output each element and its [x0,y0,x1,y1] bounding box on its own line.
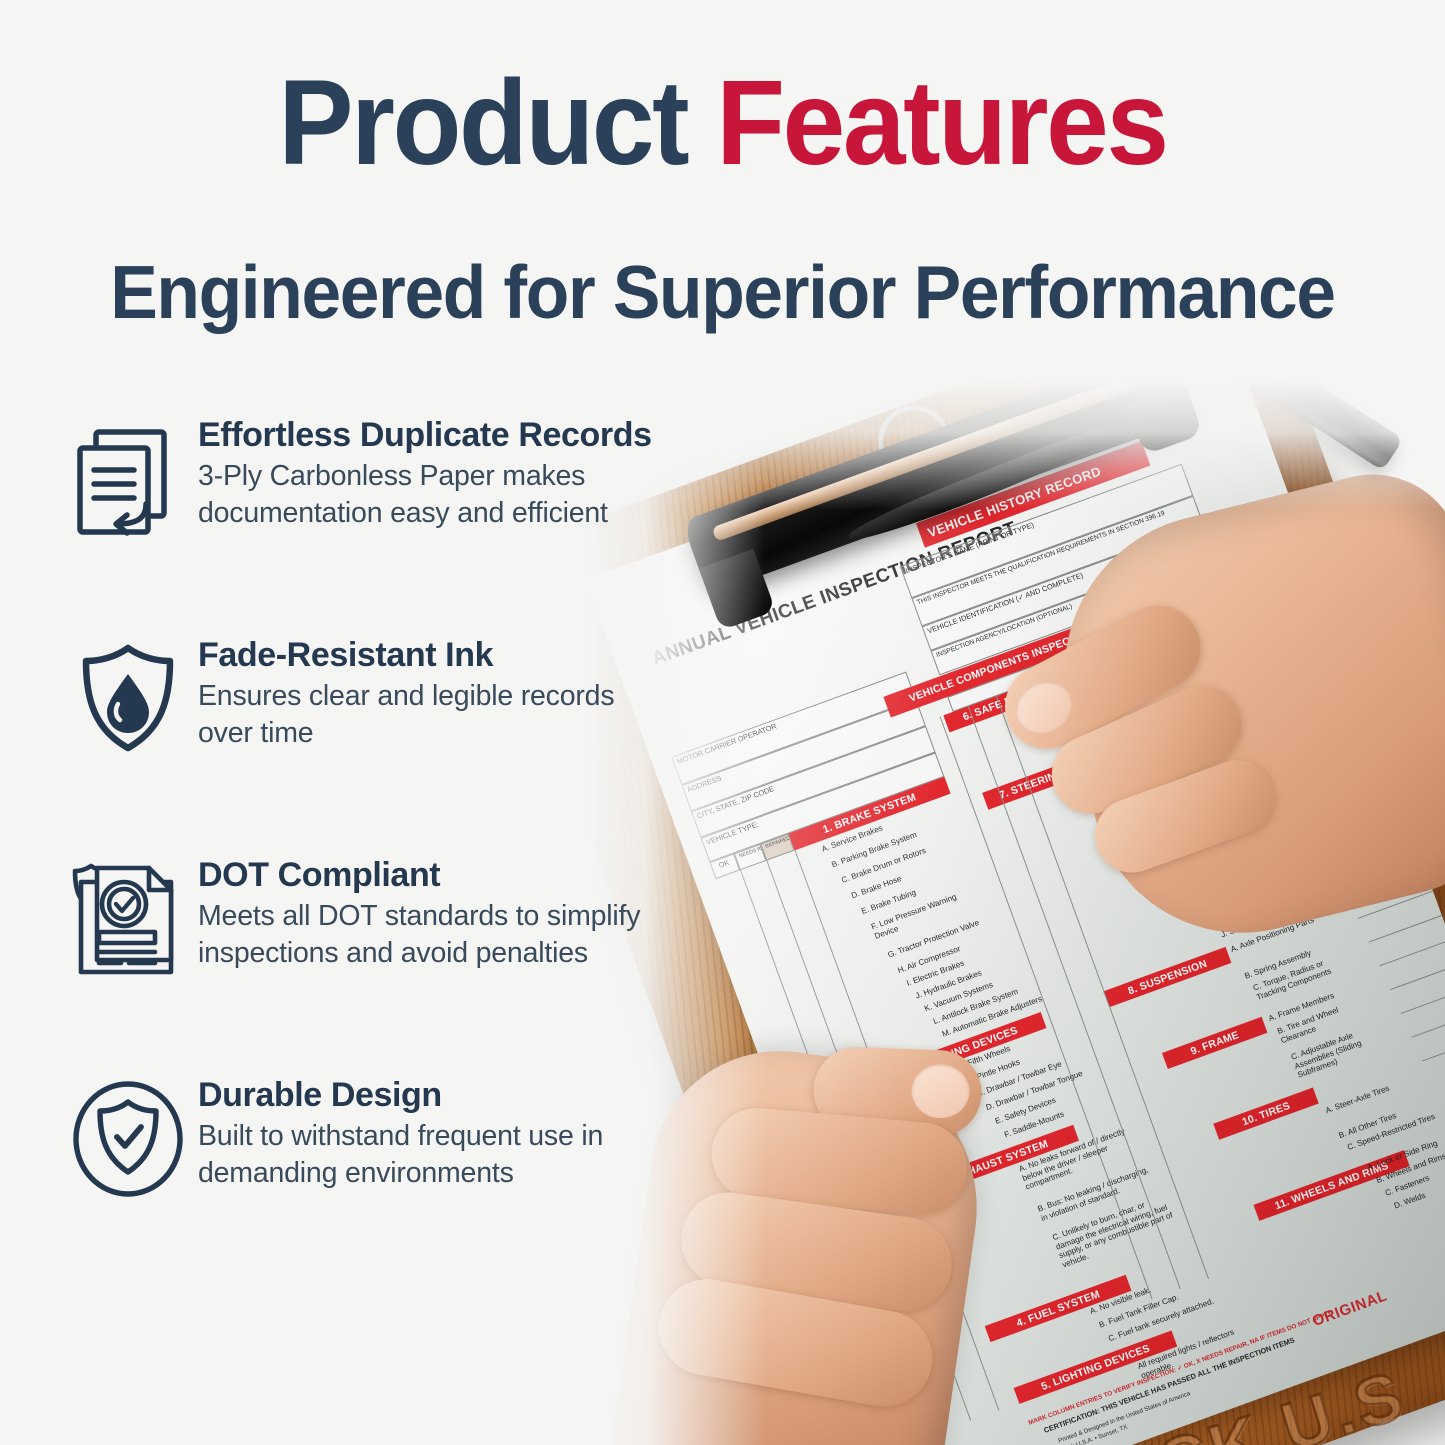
feature-desc-line2: inspections and avoid penalties [198,935,640,971]
page-title: Product Features [0,62,1445,183]
feature-description: 3-Ply Carbonless Paper makes documentati… [198,458,652,531]
feature-desc-line2: documentation easy and efficient [198,495,652,531]
page-title-part2: Features [716,54,1166,190]
feature-list: Effortless Duplicate Records 3-Ply Carbo… [58,404,758,1284]
feature-item-dot-compliant: DOT Compliant Meets all DOT standards to… [58,844,758,1064]
feature-description: Built to withstand frequent use in deman… [198,1118,603,1191]
feature-description: Meets all DOT standards to simplify insp… [198,898,640,971]
certified-document-icon [58,844,198,978]
product-features-infographic: Product Features Engineered for Superior… [0,0,1445,1445]
feature-description: Ensures clear and legible records over t… [198,678,614,751]
page-subtitle: Engineered for Superior Performance [0,255,1445,330]
shield-check-circle-icon [58,1064,198,1198]
feature-desc-line2: demanding environments [198,1155,603,1191]
feature-desc-line1: Meets all DOT standards to simplify [198,898,640,934]
feature-item-durable-design: Durable Design Built to withstand freque… [58,1064,758,1284]
feature-desc-line2: over time [198,715,614,751]
feature-item-duplicate-records: Effortless Duplicate Records 3-Ply Carbo… [58,404,758,624]
form-item: A. Steer-Axle Tires [1324,1084,1391,1116]
feature-title: Fade-Resistant Ink [198,636,614,674]
feature-desc-line1: 3-Ply Carbonless Paper makes [198,458,652,494]
feature-title: Durable Design [198,1076,603,1114]
duplicate-documents-icon [58,404,198,536]
feature-title: Effortless Duplicate Records [198,416,652,454]
feature-title: DOT Compliant [198,856,640,894]
feature-desc-line1: Ensures clear and legible records [198,678,614,714]
page-title-part1: Product [278,54,716,190]
section-banner: 10. TIRES [1213,1087,1318,1139]
fingernail [1007,672,1082,743]
form-copy-label: ORIGINAL [1310,1287,1389,1330]
feature-desc-line1: Built to withstand frequent use in [198,1118,603,1154]
fingernail [911,1063,971,1119]
feature-item-fade-resistant-ink: Fade-Resistant Ink Ensures clear and leg… [58,624,758,844]
section-banner: 9. FRAME [1162,1017,1267,1069]
shield-ink-drop-icon [58,624,198,756]
section-banner: 8. SUSPENSION [1103,947,1231,1007]
